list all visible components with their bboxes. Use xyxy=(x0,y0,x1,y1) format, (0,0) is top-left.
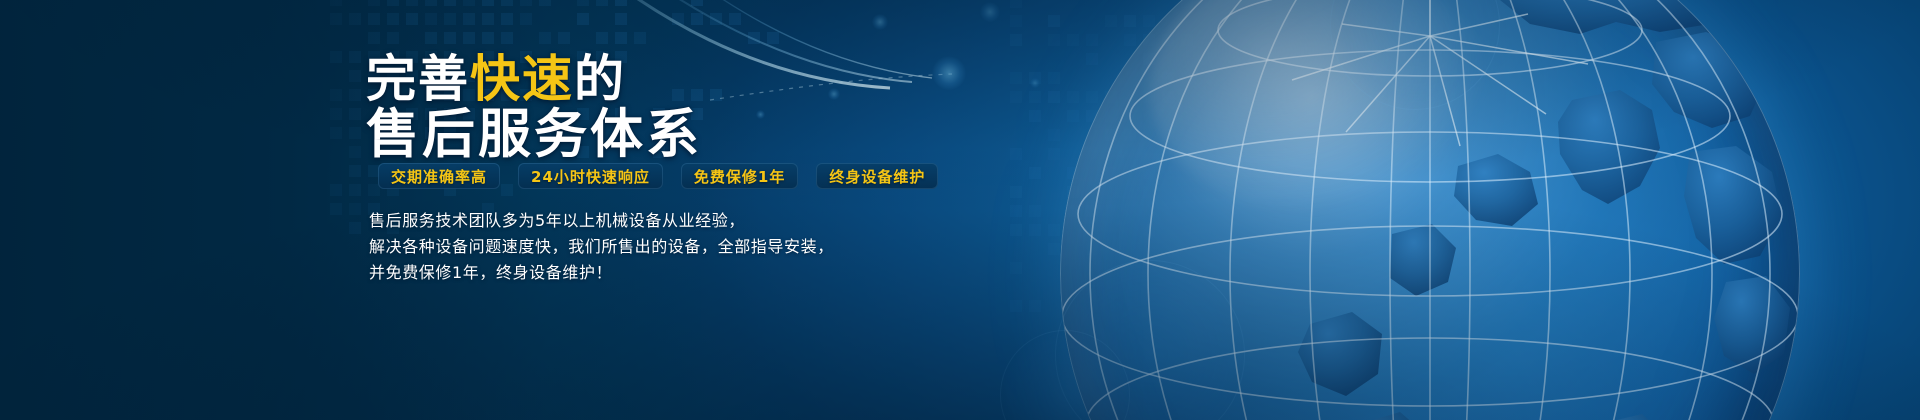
body-line-2: 解决各种设备问题速度快，我们所售出的设备，全部指导安装， xyxy=(369,234,834,260)
headline-line-2: 售后服务体系 xyxy=(366,107,702,162)
headline: 完善快速的 售后服务体系 xyxy=(366,52,702,162)
badge-free-warranty[interactable]: 免费保修1年 xyxy=(681,163,798,189)
headline-accent: 快速 xyxy=(470,50,574,108)
headline-part-1: 完善 xyxy=(366,50,470,108)
service-banner: 完善快速的 售后服务体系 交期准确率高 24小时快速响应 免费保修1年 终身设备… xyxy=(0,0,1920,420)
headline-line-1: 完善快速的 xyxy=(366,52,702,107)
badge-delivery-accuracy[interactable]: 交期准确率高 xyxy=(378,163,500,189)
badge-24h-response[interactable]: 24小时快速响应 xyxy=(518,163,663,189)
badge-lifetime-maintenance[interactable]: 终身设备维护 xyxy=(816,163,938,189)
body-copy: 售后服务技术团队多为5年以上机械设备从业经验， 解决各种设备问题速度快，我们所售… xyxy=(369,208,834,286)
body-line-3: 并免费保修1年，终身设备维护！ xyxy=(369,260,834,286)
headline-part-3: 的 xyxy=(574,50,626,108)
banner-content: 完善快速的 售后服务体系 交期准确率高 24小时快速响应 免费保修1年 终身设备… xyxy=(366,0,1126,420)
feature-badge-list: 交期准确率高 24小时快速响应 免费保修1年 终身设备维护 xyxy=(378,163,938,189)
body-line-1: 售后服务技术团队多为5年以上机械设备从业经验， xyxy=(369,208,834,234)
